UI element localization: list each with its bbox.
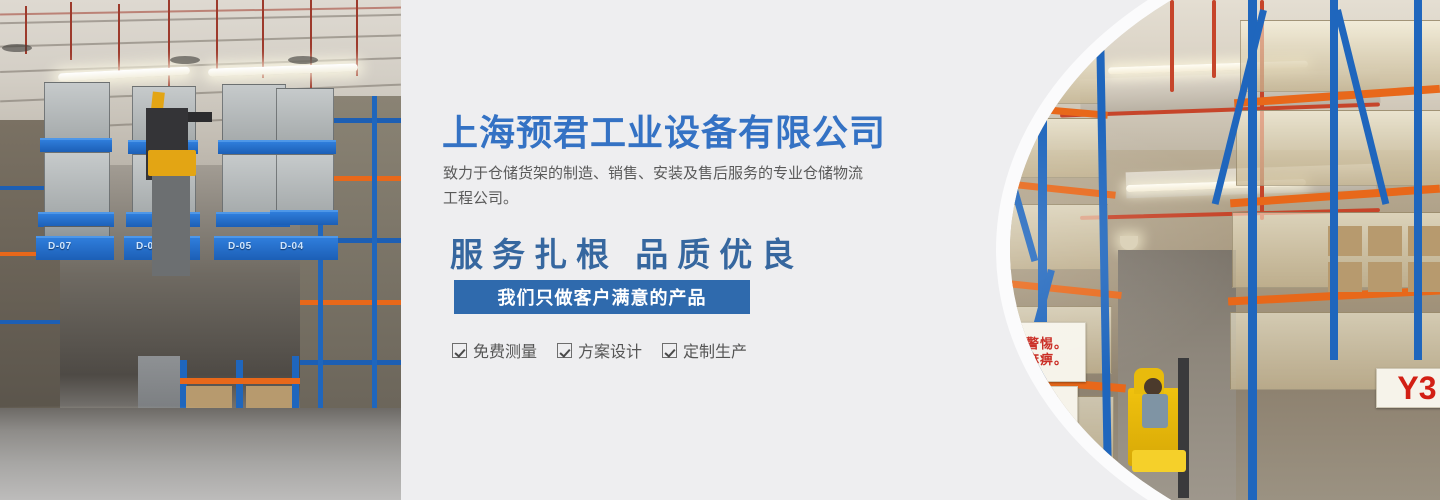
ceiling-fan — [2, 44, 32, 52]
rack-beam — [0, 320, 60, 324]
sprinkler-rod — [310, 0, 312, 88]
rack-beam — [180, 378, 300, 384]
aisle-label-text-right: Y3 — [1397, 370, 1436, 407]
carton-brand-label: Foxconn — [964, 56, 1015, 66]
sprinkler-rod — [70, 2, 72, 60]
feature-label: 方案设计 — [578, 338, 642, 362]
check-box-icon — [557, 343, 572, 358]
blue-pallet — [38, 212, 114, 227]
aisle-label-text: Y3 — [996, 390, 1038, 429]
feature-item: 定制生产 — [662, 338, 747, 362]
rack-beam — [300, 300, 401, 305]
rack-upright — [1330, 0, 1338, 360]
stacked-tote — [276, 154, 334, 212]
picker-column — [152, 176, 190, 276]
hero-banner: D-07 D-06 D-05 D-04 — [0, 0, 1440, 500]
rack-brace — [968, 269, 1032, 483]
sprinkler-pipe — [1212, 0, 1216, 78]
feature-label: 免费测量 — [473, 338, 537, 362]
picker-cab — [148, 150, 196, 176]
carton-box — [1408, 226, 1440, 256]
rack-label: D-05 — [228, 241, 252, 252]
slogan-text: 服务扎根 品质优良 — [450, 228, 803, 276]
banner-content: 上海预君工业设备有限公司 致力于仓储货架的制造、销售、安装及售后服务的专业仓储物… — [440, 0, 940, 500]
ceiling-fan — [170, 56, 200, 64]
high-bay-lamp — [1120, 236, 1138, 250]
left-warehouse-photo: D-07 D-06 D-05 D-04 — [0, 0, 401, 500]
carton-brand-label: Foxconn — [952, 262, 1003, 272]
carton-box — [1408, 262, 1440, 292]
wrapped-pallet — [1236, 110, 1440, 186]
rack-beam — [930, 272, 1122, 299]
forklift-counterweight — [1132, 450, 1186, 472]
feature-item: 方案设计 — [557, 338, 642, 362]
sprinkler-pipe — [1170, 0, 1174, 92]
feature-list: 免费测量 方案设计 定制生产 — [452, 338, 747, 362]
rack-upright — [372, 96, 377, 426]
forklift-mast — [1178, 358, 1189, 498]
company-subtitle: 致力于仓储货架的制造、销售、安装及售后服务的专业仓储物流工程公司。 — [443, 162, 863, 212]
stacked-tote — [44, 152, 110, 214]
stacked-tote — [276, 88, 334, 142]
blue-pallet — [270, 210, 338, 225]
cta-button[interactable]: 我们只做客户满意的产品 — [454, 280, 750, 314]
wrapped-pallet — [932, 396, 1114, 468]
carton-box — [1368, 262, 1402, 292]
sprinkler-rod — [118, 4, 120, 76]
blue-pallet — [40, 138, 112, 152]
carton-brand-label: Foxconn — [958, 94, 1009, 104]
ceiling-fan — [288, 56, 318, 64]
carton-box — [1368, 226, 1402, 256]
warehouse-floor — [0, 408, 401, 500]
rack-upright — [952, 10, 969, 500]
stacked-tote — [44, 82, 110, 140]
check-box-icon — [452, 343, 467, 358]
company-title: 上海预君工业设备有限公司 — [442, 104, 886, 156]
feature-label: 定制生产 — [683, 338, 747, 362]
rack-label: D-07 — [48, 241, 72, 252]
forklift-operator-torso — [1142, 394, 1168, 428]
aisle-label-sign-right: Y3 — [1376, 368, 1440, 408]
rack-upright — [1038, 0, 1047, 500]
rack-upright — [1414, 0, 1422, 360]
feature-item: 免费测量 — [452, 338, 537, 362]
check-box-icon — [662, 343, 677, 358]
rack-label: D-04 — [280, 241, 304, 252]
rack-beam — [300, 360, 401, 365]
blue-pallet — [272, 140, 336, 154]
